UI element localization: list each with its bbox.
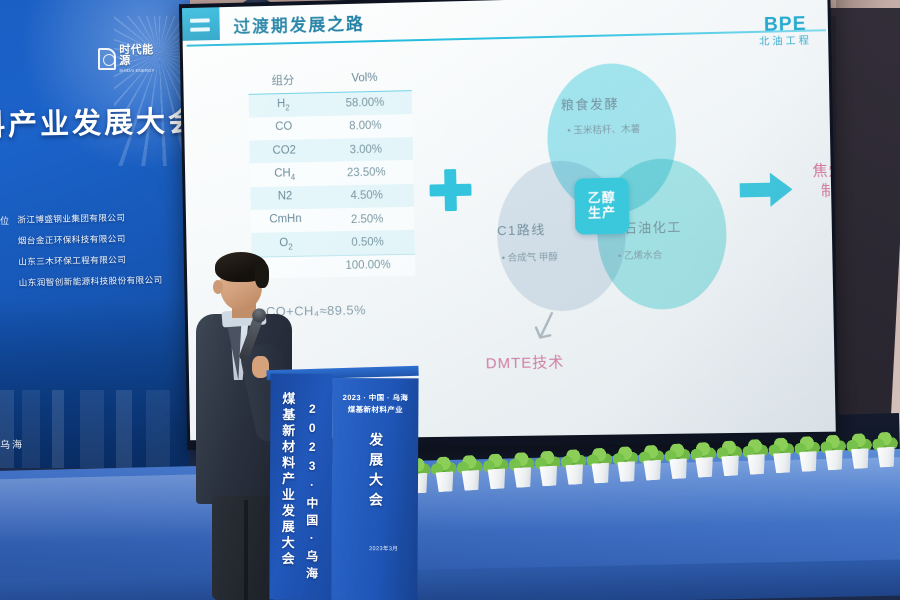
column-header-volume: Vol% xyxy=(317,64,411,92)
plant-pot xyxy=(486,468,507,489)
venn-label-petrochemical: 石油化工 xyxy=(623,217,682,237)
cell-value: 23.50% xyxy=(319,160,413,185)
plant-pot xyxy=(824,450,845,471)
cell-value: 8.00% xyxy=(318,114,412,139)
gas-composition-table: 组分 Vol% H2 58.00% CO 8.00% CO2 3 xyxy=(248,64,415,278)
sponsor-logo-sub: SHIDAI ENERGY xyxy=(119,69,160,74)
plant-pot xyxy=(694,457,715,478)
banner-support-label: 位 xyxy=(0,214,10,227)
podium-right-vertical-title: 发展大会 xyxy=(366,432,386,512)
table-row: CO2 3.00% xyxy=(249,137,413,164)
cell-component: H2 xyxy=(249,92,319,117)
cell-component: CO xyxy=(249,116,319,141)
table-row: CmHn 2.50% xyxy=(251,207,415,233)
cell-component: CH4 xyxy=(250,162,320,187)
list-item: 烟台金正环保科技有限公司 xyxy=(18,231,188,247)
podium-vertical-title: 煤基新材料产业发展大会 xyxy=(278,392,298,568)
callout-arrow-svg xyxy=(530,311,561,348)
column-header-component: 组分 xyxy=(248,66,318,93)
cell-component: N2 xyxy=(250,185,320,210)
sponsor-logo: 时代能源 SHIDAI ENERGY xyxy=(98,36,160,82)
cell-value: 2.50% xyxy=(320,207,414,232)
list-item: 浙江博盛钢业集团有限公司 xyxy=(17,210,187,226)
plant-pot xyxy=(668,458,689,479)
plant-pot xyxy=(434,471,455,492)
venn-label-grain-fermentation: 粮食发酵 xyxy=(561,93,620,113)
cell-component: CmHn xyxy=(251,209,321,233)
plant-pot xyxy=(538,465,559,486)
cell-value: 4.50% xyxy=(320,184,414,209)
plant-pot xyxy=(720,455,741,476)
plant-pot xyxy=(590,463,611,484)
plant-pot xyxy=(798,451,819,472)
speaker-trouser-seam xyxy=(244,500,248,600)
speaker-hair xyxy=(215,252,267,282)
cell-value: 3.00% xyxy=(319,137,413,162)
bpe-logo: BPE 北油工程 xyxy=(759,14,812,48)
cell-value: 0.50% xyxy=(320,230,414,255)
table-row: CH4 23.50% xyxy=(250,160,414,187)
conference-photo-scene: 时代能源 SHIDAI ENERGY 料产业发展大会 位 浙江博盛钢业集团有限公… xyxy=(0,0,900,600)
result-label: 焦炉煤气 制乙醇 xyxy=(796,160,836,203)
result-label-line1: 焦炉煤气 xyxy=(796,160,836,182)
sponsor-logo-mark-icon xyxy=(98,48,116,70)
venn-bullet-grain-fermentation: • 玉米秸杆、木薯 xyxy=(567,121,640,137)
cell-total-value: 100.00% xyxy=(321,254,415,277)
podium-vertical-subtitle: 2023·中国·乌海 xyxy=(303,402,321,584)
table-row: H2 58.00% xyxy=(249,90,413,117)
slide-title: 过渡期发展之路 xyxy=(233,10,365,38)
plant-pot xyxy=(642,460,663,481)
bpe-logo-subtext: 北油工程 xyxy=(759,37,812,48)
plant-pot xyxy=(746,454,767,475)
venn-bullet-petrochemical: • 乙烯水合 xyxy=(618,247,663,262)
plus-symbol-icon xyxy=(429,169,472,212)
cell-component: CO2 xyxy=(249,139,319,164)
arrow-right-icon xyxy=(739,172,792,207)
plant-pot xyxy=(564,464,585,485)
venn-center-badge: 乙醇生产 xyxy=(574,178,629,235)
podium-date: 2023年3月 xyxy=(362,544,406,552)
plant-pot xyxy=(616,461,637,482)
dmte-technology-label: DMTE技术 xyxy=(486,351,565,373)
venn-bullet-c1-route: • 合成气 甲醇 xyxy=(502,249,558,264)
venn-diagram: 粮食发酵 • 玉米秸杆、木薯 C1路线 • 合成气 甲醇 石油化工 • 乙烯水合… xyxy=(488,56,744,312)
plant-pot xyxy=(772,452,793,473)
venn-label-c1-route: C1路线 xyxy=(497,219,546,239)
list-item: 山东润智创新能源科技股份有限公司 xyxy=(19,273,189,289)
callout-arrow-icon xyxy=(530,311,561,348)
slide-menu-accent-icon xyxy=(182,7,220,41)
banner-skyline-graphic xyxy=(0,298,190,468)
list-item: 山东三木环保工程有限公司 xyxy=(18,252,188,268)
plant-pot xyxy=(876,447,897,468)
plant-pot xyxy=(460,470,481,491)
plant-pot xyxy=(512,467,533,488)
banner-title: 料产业发展大会 xyxy=(0,98,190,145)
speaker-ear xyxy=(213,280,223,294)
bpe-logo-text: BPE xyxy=(759,14,812,34)
cell-value: 58.00% xyxy=(318,90,412,116)
table-header-row: 组分 Vol% xyxy=(248,64,412,94)
podium-header-text: 2023 · 中国 · 乌海 煤基新材料产业 xyxy=(338,392,412,416)
venue-banner: 时代能源 SHIDAI ENERGY 料产业发展大会 位 浙江博盛钢业集团有限公… xyxy=(0,0,190,468)
plant-pot xyxy=(850,448,871,469)
banner-organization-list: 浙江博盛钢业集团有限公司 烟台金正环保科技有限公司 山东三木环保工程有限公司 山… xyxy=(17,210,189,289)
lectern-podium: 煤基新材料产业发展大会 2023·中国·乌海 2023 · 中国 · 乌海 煤基… xyxy=(269,368,418,600)
venn-center-label: 乙醇生产 xyxy=(582,191,623,222)
sponsor-logo-name: 时代能源 xyxy=(119,45,160,67)
banner-city-text: 乌海 xyxy=(0,436,24,451)
result-label-line2: 制乙醇 xyxy=(796,180,835,202)
table-row: CO 8.00% xyxy=(249,114,413,141)
table-row: N2 4.50% xyxy=(250,184,414,210)
